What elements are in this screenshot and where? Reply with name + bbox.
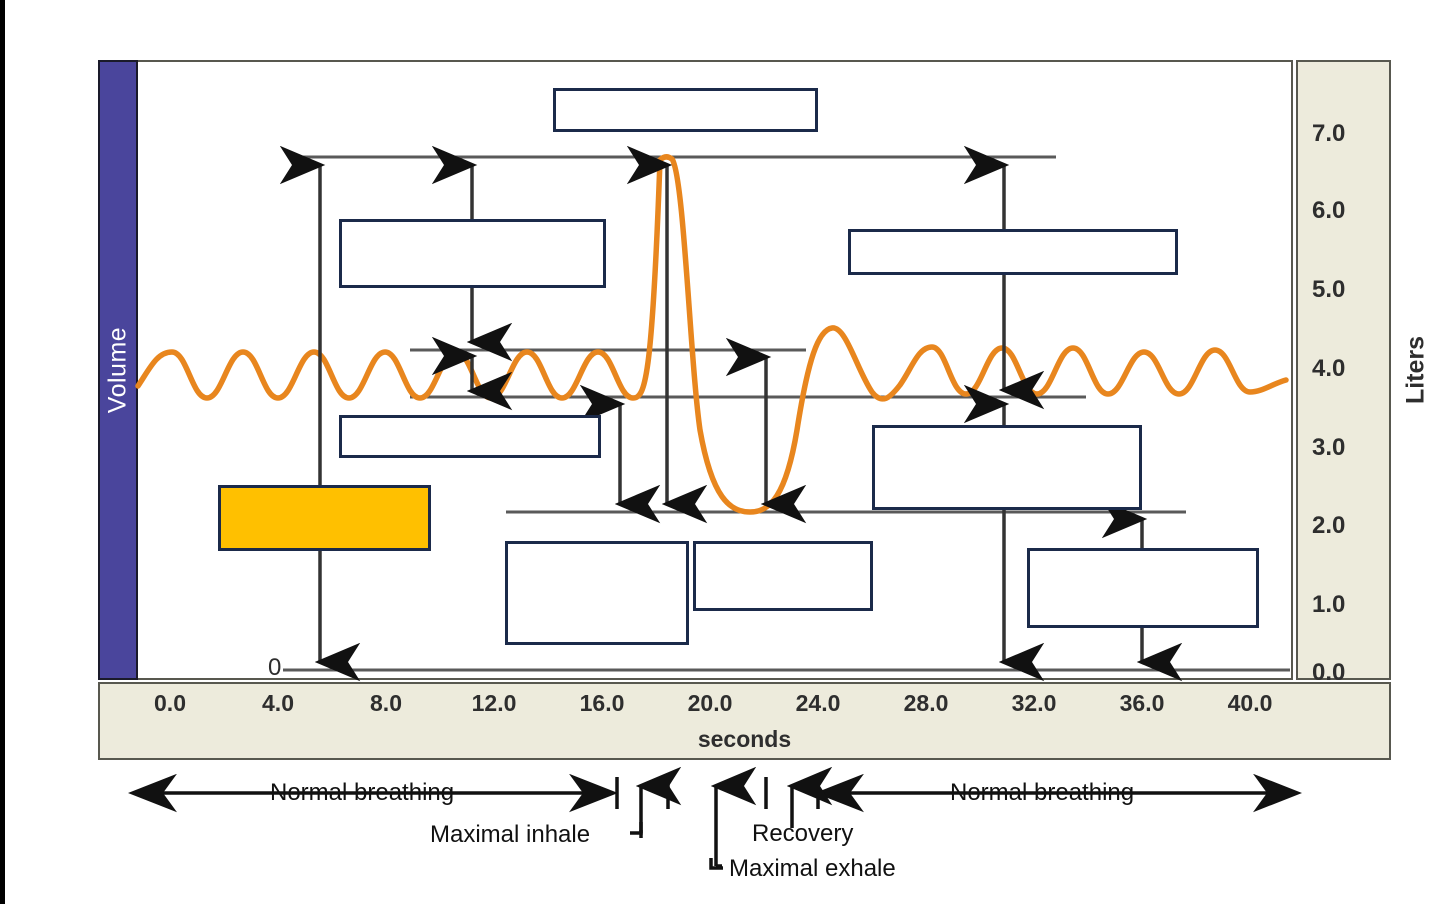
x-tick-32: 32.0 [1012,690,1057,717]
liters-axis-panel: 7.0 6.0 5.0 4.0 3.0 2.0 1.0 0.0 [1296,60,1391,680]
x-tick-36: 36.0 [1120,690,1165,717]
y-tick-4: 4.0 [1312,355,1345,383]
x-tick-8: 8.0 [370,690,402,717]
answer-box-upper-left[interactable] [339,219,606,288]
elbow-maximal-inhale [630,822,641,833]
y-tick-1: 1.0 [1312,591,1345,619]
x-tick-40: 40.0 [1228,690,1273,717]
x-tick-28: 28.0 [904,690,949,717]
elbow-exhale-corner [711,858,723,868]
answer-box-top-center[interactable] [553,88,818,132]
y-tick-2: 2.0 [1312,512,1345,540]
volume-axis-band: Volume [98,60,138,680]
seconds-axis-title: seconds [100,726,1389,753]
x-tick-0: 0.0 [154,690,186,717]
liters-axis-title: Liters [1402,336,1431,404]
liters-axis-title-wrap: Liters [1392,60,1440,680]
y-tick-3: 3.0 [1312,434,1345,462]
x-tick-24: 24.0 [796,690,841,717]
answer-box-highlight[interactable] [218,485,431,551]
y-tick-6: 6.0 [1312,197,1345,225]
answer-box-upper-right[interactable] [848,229,1178,275]
answer-box-lower-center[interactable] [693,541,873,611]
figure-left-border [0,0,5,904]
answer-box-lower-left[interactable] [505,541,689,645]
x-tick-20: 20.0 [688,690,733,717]
volume-axis-label: Volume [104,327,133,413]
x-tick-4: 4.0 [262,690,294,717]
seconds-axis-panel: 0.0 4.0 8.0 12.0 16.0 20.0 24.0 28.0 32.… [98,682,1391,760]
answer-box-lower-right[interactable] [1027,548,1259,628]
answer-box-mid-left[interactable] [339,415,601,458]
y-tick-7: 7.0 [1312,120,1345,148]
label-normal-breathing-right: Normal breathing [950,779,1134,807]
x-tick-16: 16.0 [580,690,625,717]
zero-baseline-label: 0 [268,654,281,682]
label-normal-breathing-left: Normal breathing [270,779,454,807]
spirogram-figure: Volume 7.0 6.0 5.0 4.0 3.0 2.0 1.0 0.0 L… [0,0,1446,904]
x-tick-12: 12.0 [472,690,517,717]
y-tick-5: 5.0 [1312,276,1345,304]
label-maximal-exhale: Maximal exhale [729,855,896,883]
label-recovery: Recovery [752,820,853,848]
label-maximal-inhale: Maximal inhale [430,821,590,849]
answer-box-mid-right[interactable] [872,425,1142,510]
